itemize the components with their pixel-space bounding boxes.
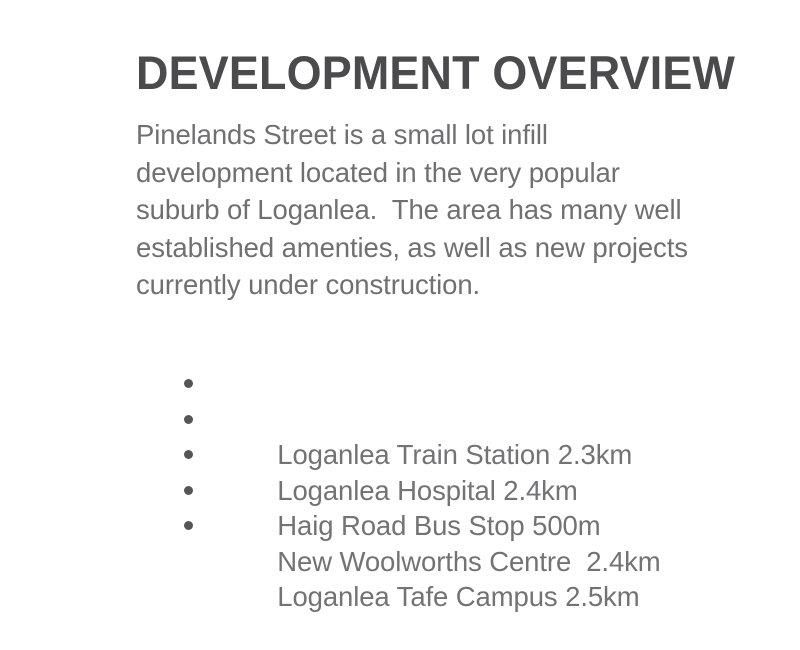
disc-bullet-icon [184, 450, 193, 459]
amenity-label: New Woolworths Centre 2.4km [277, 546, 660, 577]
list-item: Loganlea Train Station 2.3km [180, 366, 780, 402]
disc-bullet-icon [184, 521, 193, 530]
list-item: New Woolworths Centre 2.4km [180, 473, 780, 509]
page-title: DEVELOPMENT OVERVIEW [136, 48, 728, 97]
overview-description: Pinelands Street is a small lot infill d… [136, 116, 696, 304]
amenities-list: Loganlea Train Station 2.3km Loganlea Ho… [180, 366, 780, 544]
disc-bullet-icon [184, 379, 193, 388]
amenity-label: Loganlea Tafe Campus 2.5km [277, 581, 639, 612]
list-item: Haig Road Bus Stop 500m [180, 437, 780, 473]
list-item: Loganlea Tafe Campus 2.5km [180, 508, 780, 544]
list-item: Loganlea Hospital 2.4km [180, 402, 780, 438]
development-overview-slide: DEVELOPMENT OVERVIEW Pinelands Street is… [0, 0, 800, 600]
disc-bullet-icon [184, 415, 193, 424]
disc-bullet-icon [184, 486, 193, 495]
